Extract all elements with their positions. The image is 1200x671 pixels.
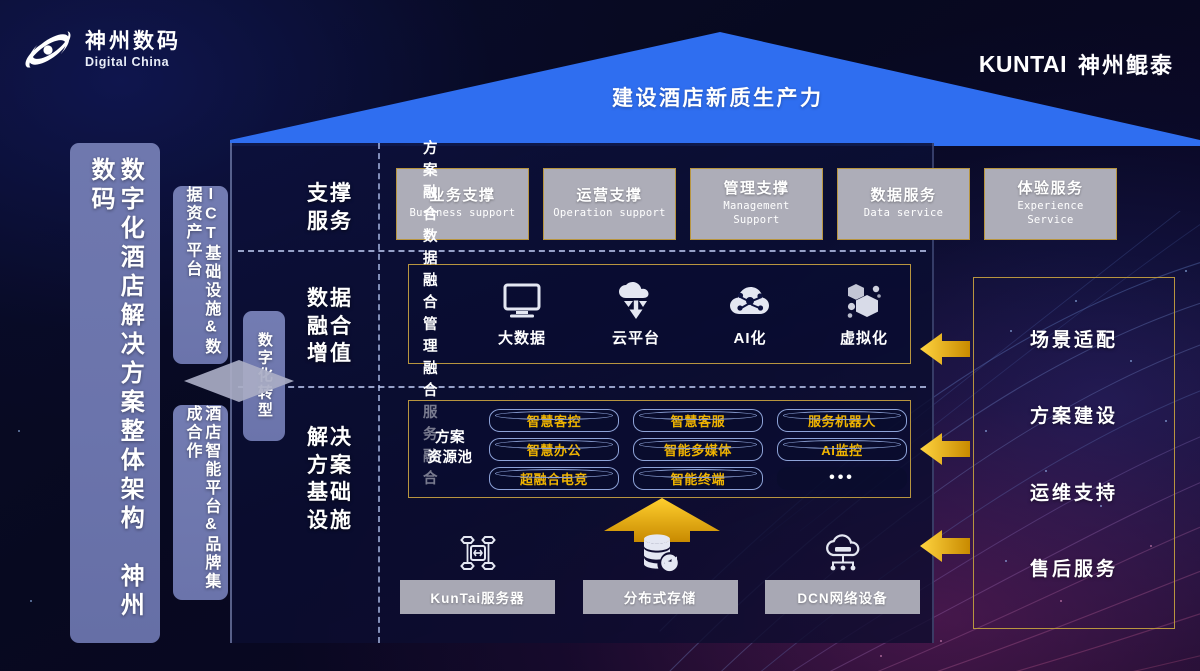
row-label-support: 支撑 服务 bbox=[292, 180, 368, 235]
support-card-management[interactable]: 管理支撑 Management Support bbox=[690, 168, 823, 240]
pool-item-hyperconverged-esports[interactable]: 超融合电竞 bbox=[489, 467, 619, 490]
fusion-item-label: AI化 bbox=[733, 327, 766, 348]
architecture-diagram: 建设酒店新质生产力 神州数码 Digital China KUNTAI 神州鲲泰… bbox=[0, 0, 1200, 671]
support-card-experience[interactable]: 体验服务 Experience Service bbox=[984, 168, 1117, 240]
support-service-cards: 业务支撑 Business support 运营支撑 Operation sup… bbox=[396, 168, 1117, 240]
fusion-item-label: 大数据 bbox=[498, 327, 546, 348]
diamond-arrow-icon bbox=[184, 358, 294, 404]
row-label-fusion: 数据 融合 增值 bbox=[292, 285, 368, 368]
monitor-icon bbox=[502, 280, 542, 322]
cloud-arrows-icon bbox=[614, 280, 658, 322]
arrow-left-gold-icon-infra bbox=[920, 529, 970, 563]
right-service-panel: 场景适配 方案建设 运维支持 售后服务 bbox=[973, 277, 1175, 629]
logo-cn-text: 神州数码 bbox=[85, 31, 181, 53]
fusion-item-cloud[interactable]: 云平台 bbox=[590, 280, 682, 348]
infra-item-distributed-storage[interactable]: 分布式存储 bbox=[583, 533, 738, 614]
cloud-network-icon bbox=[821, 533, 865, 573]
panel-overall-architecture-label: 数字化酒店解决方案整体架构 神州数码 bbox=[86, 157, 145, 629]
pool-item-smart-room-control[interactable]: 智慧客控 bbox=[489, 409, 619, 432]
arrow-left-gold-icon-pool bbox=[920, 432, 970, 466]
infra-item-kuntai-server[interactable]: KunTai服务器 bbox=[400, 533, 555, 614]
pool-item-smart-multimedia[interactable]: 智能多媒体 bbox=[633, 438, 763, 461]
divider-support-fusion bbox=[238, 250, 926, 252]
logo-en-text: Digital China bbox=[85, 56, 181, 69]
infra-item-label: KunTai服务器 bbox=[400, 580, 555, 614]
support-card-cn: 运营支撑 bbox=[576, 187, 642, 205]
infrastructure-row: KunTai服务器 分布式存储 bbox=[400, 533, 920, 614]
support-card-business[interactable]: 业务支撑 Business support bbox=[396, 168, 529, 240]
kuntai-en-text: KUNTAI bbox=[979, 51, 1067, 78]
roof-title: 建设酒店新质生产力 bbox=[612, 82, 824, 112]
support-card-data[interactable]: 数据服务 Data service bbox=[837, 168, 970, 240]
fusion-item-ai[interactable]: AI化 bbox=[704, 280, 796, 348]
kuntai-cn-text: 神州鲲泰 bbox=[1078, 48, 1174, 80]
infra-item-dcn-network[interactable]: DCN网络设备 bbox=[765, 533, 920, 614]
right-item-after-sales[interactable]: 售后服务 bbox=[1030, 554, 1118, 581]
divider-fusion-solution bbox=[238, 386, 926, 388]
support-card-en: Data service bbox=[864, 207, 943, 221]
infra-item-label: 分布式存储 bbox=[583, 580, 738, 614]
support-card-cn: 数据服务 bbox=[870, 187, 936, 205]
support-card-cn: 体验服务 bbox=[1017, 180, 1083, 198]
pool-item-service-robot[interactable]: 服务机器人 bbox=[777, 409, 907, 432]
fusion-item-label: 虚拟化 bbox=[840, 327, 888, 348]
panel-ict-infrastructure[interactable]: ICT基础设施&数据资产平台 bbox=[173, 186, 228, 364]
pool-item-more[interactable]: ••• bbox=[777, 467, 907, 490]
resource-pool-grid: 智慧客控 智慧客服 服务机器人 智慧办公 智能多媒体 AI监控 超融合电竞 智能… bbox=[489, 409, 907, 490]
vertical-divider bbox=[378, 143, 380, 643]
fusion-item-label: 云平台 bbox=[612, 327, 660, 348]
server-nodes-icon bbox=[457, 533, 499, 573]
support-card-en: Operation support bbox=[553, 207, 666, 221]
pool-item-smart-customer-service[interactable]: 智慧客服 bbox=[633, 409, 763, 432]
support-card-en: Management Support bbox=[723, 200, 789, 227]
cloud-ai-network-icon bbox=[727, 280, 773, 322]
panel-ict-label: ICT基础设施&数据资产平台 bbox=[182, 186, 220, 364]
row-label-solution: 解决 方案 基础 设施 bbox=[292, 424, 368, 535]
logo-kuntai: KUNTAI 神州鲲泰 bbox=[979, 48, 1174, 80]
arrow-left-gold-icon-fusion bbox=[920, 332, 970, 366]
resource-pool-label: 方案 资源池 bbox=[417, 429, 483, 468]
right-item-solution-build[interactable]: 方案建设 bbox=[1030, 401, 1118, 428]
logo-digital-china: 神州数码 Digital China bbox=[22, 24, 181, 76]
swirl-logo-icon bbox=[22, 24, 74, 76]
panel-hotel-platform[interactable]: 酒店智能平台&品牌集成合作 bbox=[173, 405, 228, 600]
support-card-operation[interactable]: 运营支撑 Operation support bbox=[543, 168, 676, 240]
support-card-en: Experience Service bbox=[1017, 200, 1083, 227]
data-fusion-box: 方案融合 数据融合 管理融合 服务融合 大数据 bbox=[408, 264, 911, 364]
resource-pool-box: 方案 资源池 智慧客控 智慧客服 服务机器人 智慧办公 智能多媒体 AI监控 超… bbox=[408, 400, 911, 498]
fusion-item-bigdata[interactable]: 大数据 bbox=[476, 280, 568, 348]
database-sync-icon bbox=[640, 533, 680, 573]
right-item-scene-adaptation[interactable]: 场景适配 bbox=[1030, 325, 1118, 352]
support-card-cn: 管理支撑 bbox=[723, 180, 789, 198]
fusion-item-virtualization[interactable]: 虚拟化 bbox=[818, 280, 910, 348]
panel-hotel-label: 酒店智能平台&品牌集成合作 bbox=[182, 405, 220, 600]
right-item-ops-support[interactable]: 运维支持 bbox=[1030, 478, 1118, 505]
cubes-icon bbox=[843, 280, 885, 322]
infra-item-label: DCN网络设备 bbox=[765, 580, 920, 614]
panel-overall-architecture[interactable]: 数字化酒店解决方案整体架构 神州数码 bbox=[70, 143, 160, 643]
pool-item-ai-monitoring[interactable]: AI监控 bbox=[777, 438, 907, 461]
pool-item-smart-office[interactable]: 智慧办公 bbox=[489, 438, 619, 461]
pool-item-smart-terminal[interactable]: 智能终端 bbox=[633, 467, 763, 490]
